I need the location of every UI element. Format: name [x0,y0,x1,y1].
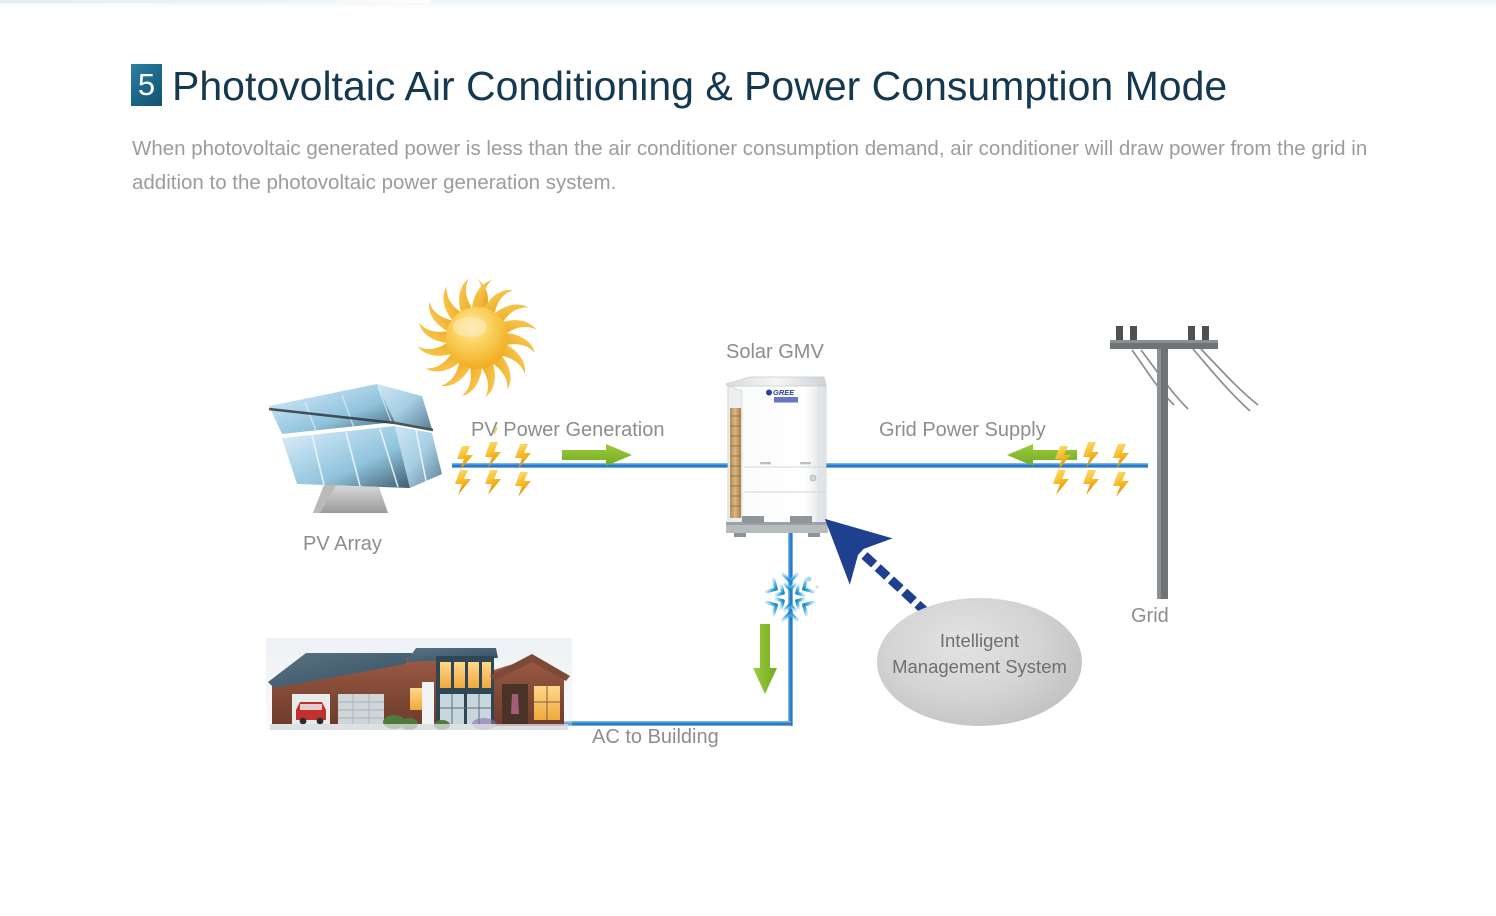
green-arrow-down-icon [753,624,779,696]
ac-to-building-label: AC to Building [592,726,719,749]
house-icon [266,636,572,735]
ims-label-line1: Intelligent [877,628,1082,654]
grid-label: Grid [1131,605,1169,628]
system-diagram: PV Array [0,0,1496,916]
grid-power-supply-label: Grid Power Supply [879,419,1046,442]
ims-label-line2: Management System [877,654,1082,680]
unit-to-building-drop-line [788,525,793,726]
sun-icon [404,278,550,398]
slide-canvas: 5 Photovoltaic Air Conditioning & Power … [0,0,1496,916]
intelligent-management-system-label: Intelligent Management System [877,628,1082,680]
unit-brand-text: GREE [773,388,795,397]
ac-outdoor-unit-icon: GREE [720,372,832,538]
pv-array-label: PV Array [303,533,382,556]
lightning-bolt-icon [452,432,547,502]
navy-dashed-arrow-icon [830,525,940,620]
pv-power-generation-label: PV Power Generation [471,419,664,442]
utility-pole-icon [1100,325,1265,600]
green-arrow-right-icon [562,444,634,468]
snowflake-icon [751,567,829,625]
solar-gmv-label: Solar GMV [726,341,824,364]
solar-panel-icon [250,382,465,517]
